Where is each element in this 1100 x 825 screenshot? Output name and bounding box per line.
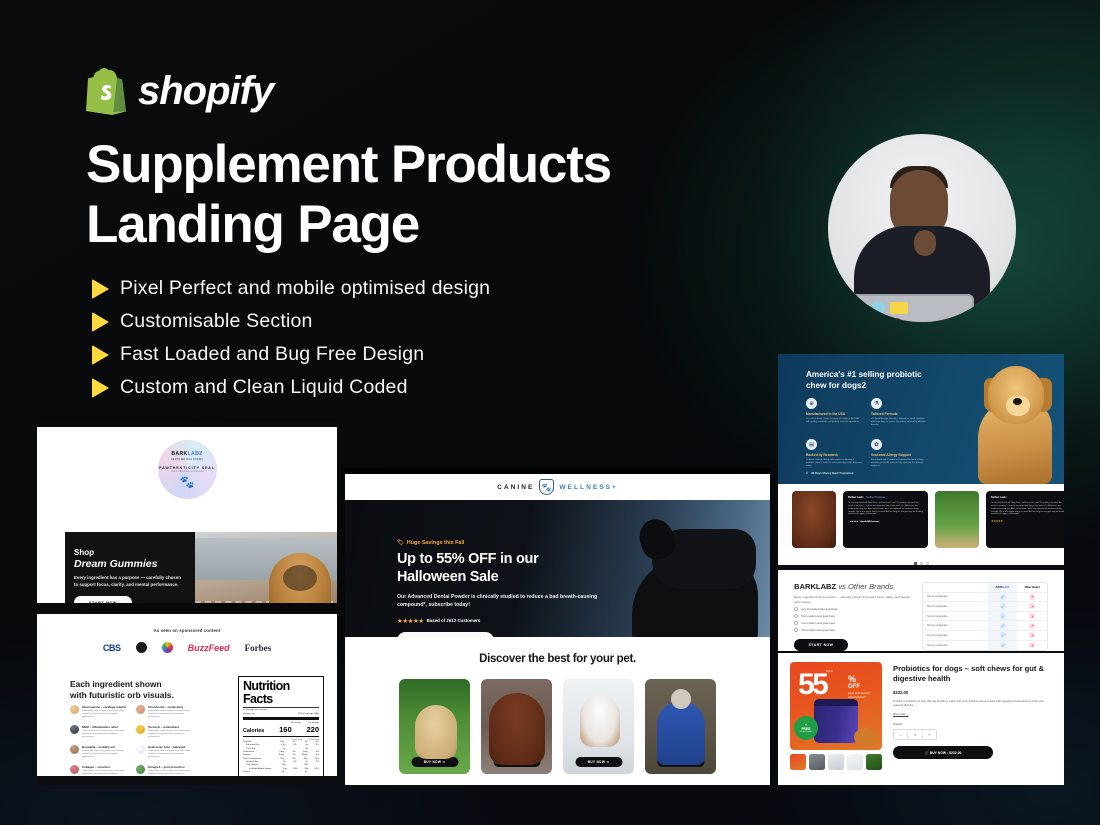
free-gift-badge: +FREEDental Powder [794,716,818,740]
product-hero-image[interactable]: Up to 55 % OFF your first month subscrip… [790,662,882,750]
review-card: Bethan LewisVerified Customer I'm very i… [843,491,928,548]
promo-upto-label: Up to [826,669,833,673]
comparison-table: BARKLABZ Other Brand Text on perspective… [922,582,1048,651]
bullet-label: Pixel Perfect and mobile optimised desig… [120,277,490,300]
ingredient-desc: Traditionally used to support focus and … [82,730,129,739]
ingredient-desc: Traditionally used to support focus and … [148,730,195,739]
discover-heading: Discover the best for your pet. [345,653,770,665]
calories-label: Calories [243,728,264,734]
ingredient-name: Glucosamine – cartilage rebuild [82,705,129,709]
list-item: ▤Backed by ResearchProbiotic worked clos… [806,439,863,468]
mockup-brand-comparison[interactable]: BARKLABZ vs Other Brands Every ingredien… [778,565,1064,651]
shop-product-name: Dream Gummies [74,558,195,570]
ingredient-desc: Traditionally used to support focus and … [148,710,195,719]
list-item: Customisable Section [92,305,632,338]
product-jar-shape [814,699,858,743]
buy-now-button[interactable]: BUY NOW ➜ [575,757,622,767]
seal-mid-sub: 100% VERIFIED FORMULA [171,471,203,473]
list-item: very ingredient has a purpose [794,607,910,611]
shield-check-icon: ⛉ [806,471,808,475]
forbes-logo: Forbes [245,643,272,653]
hero-body: Our Advanced Dental Powder is clinically… [397,593,617,609]
shield-icon: 🐾 [539,479,554,495]
review-stars: ★★★★★ [991,519,1064,523]
page-title: Supplement Products Landing Page [86,135,786,255]
ingredient-orb-icon [70,765,79,774]
feature-title: Tailored Formula [871,412,928,416]
table-row: Text on perspective✓✕ [923,641,1047,651]
browser-top-bar [37,421,337,427]
page-title-line1: Supplement Products [86,135,786,195]
review-stars: ★★★★★Based of 265 Customers [848,519,923,523]
cbs-logo: CBS [103,643,121,653]
list-item: Chondroitin – cushioningTraditionally us… [136,705,195,719]
list-item: ⚗Tailored FormulaOur breakthrough formul… [871,398,928,427]
check-icon: ✓ [1000,594,1006,600]
row-label: Text on perspective [923,644,988,647]
reviewer-name: Bethan LewisVerified Customer [848,496,923,499]
check-circle-icon [794,614,798,618]
press-logo-row: CBS BuzzFeed Forbes [37,642,337,653]
quantity-label: Quantity [893,723,1052,726]
feature-desc: Our breakthrough formula is tailored for… [871,418,928,428]
guarantee-note: ⛉30 Days Money Back Guarantee [806,471,853,475]
list-item: Fast Loaded and Bug Free Design [92,338,632,371]
product-card[interactable]: BUY NOW ➜ [563,679,634,774]
leaf-icon: ✿ [871,439,882,450]
review-carousel[interactable]: Bethan LewisVerified Customer I'm very i… [778,484,1064,560]
feature-grid: ⊕Manufactured in the USAOur soft probiot… [806,398,928,469]
check-icon: ✓ [1000,613,1006,619]
review-body: I'm very impressed with NaturDent+ and h… [848,502,923,516]
brand-word-left: CANINE [497,484,534,491]
list-item: Glucosamine – cartilage rebuildTradition… [70,705,129,719]
buy-now-button[interactable]: 🛒 BUY NOW • $232.00 [893,746,993,759]
shopify-wordmark: shopify [138,69,273,114]
calories-per-package: 220 [306,725,319,734]
nutrition-servings: 10 servings per container [243,709,319,711]
review-photo [792,491,836,548]
promo-discount-number: 55 [798,670,826,700]
hero-banner: 🏷Huge Savings this Fall Up to 55% OFF in… [345,500,770,637]
feature-bullet-list: Pixel Perfect and mobile optimised desig… [92,272,632,404]
list-item: Turmeric – antioxidantTraditionally used… [136,725,195,739]
paw-print-icon: 🐾 [180,476,195,488]
list-item: ✿Seasonal Allergy SupportFormulated with… [871,439,928,468]
show-more-link[interactable]: Show more ⌄ [893,713,1052,716]
ingredient-desc: Traditionally used to support focus and … [148,750,195,759]
product-card[interactable]: BUY NOW ➜ [399,679,470,774]
pawthenticity-seal-badge: BARKLABZ CERTIFIED DOG CHEWS PAWTHENTICI… [158,440,217,499]
ingredient-orb-icon [70,725,79,734]
cross-icon: ✕ [1029,594,1035,600]
ingredient-name: Chondroitin – cushioning [148,705,195,709]
table-row: Text on perspective✓✕ [923,593,1047,603]
triangle-bullet-icon [92,378,109,398]
feature-title: Backed by Research [806,453,863,457]
quantity-decrement[interactable]: – [894,730,907,739]
ingredient-desc: Traditionally used to support focus and … [82,750,129,759]
row-label: Text on perspective [923,615,988,618]
buy-now-button[interactable]: BUY NOW ➜ [493,757,540,767]
review-card: Bethan Lewis I'm very impressed with Nat… [986,491,1064,548]
dog-nose-shape [1013,398,1022,405]
site-header: CANINE 🐾 WELLNESS+ [345,474,770,500]
list-item: Boswellia – mobility aidTraditionally us… [70,745,129,759]
comparison-copy: BARKLABZ vs Other Brands Every ingredien… [794,582,910,651]
nutrition-serving-size: Serving size1/10 of package (28g) [243,713,319,715]
triangle-bullet-icon [92,312,109,332]
column-header-brand: BARKLABZ [996,586,1010,589]
row-label: Text on perspective [923,605,988,608]
globe-icon: ⊕ [806,398,817,409]
page-title-line2: Landing Page [86,195,786,255]
triangle-bullet-icon [92,279,109,299]
press-circle-logo [136,642,147,653]
rating-count-label: Based of 2612 Customers [427,618,481,623]
feature-desc: Probiotic worked closely with experts to… [806,459,863,469]
ingredient-orb-icon [136,745,145,754]
tag-icon: 🏷 [397,540,404,546]
table-row: Text on perspective✓✕ [923,631,1047,641]
check-circle-icon [794,621,798,625]
comparison-body: Every ingredient has a purpose — careful… [794,595,910,604]
ingredient-orb-icon [70,745,79,754]
avatar-hand [914,230,936,256]
mockup-product-detail[interactable]: Up to 55 % OFF your first month subscrip… [778,653,1064,785]
golden-retriever-photo [940,358,1064,484]
pumpkin-shape [854,728,876,746]
mockup-probiotic-chew[interactable]: America's #1 selling probiotic chew for … [778,354,1064,566]
table-row: Text on perspective✓✕ [923,602,1047,612]
bullet-label: Customisable Section [120,310,313,333]
ingredient-orb-icon [136,765,145,774]
quantity-stepper[interactable]: – 1 + [893,729,937,740]
table-header-row: BARKLABZ Other Brand [923,583,1047,593]
product-price: $232.00 [893,690,1052,695]
seal-brand-sub: CERTIFIED DOG CHEWS [171,458,203,461]
shop-description: Every ingredient has a purpose — careful… [74,575,182,588]
ingredient-orb-icon [136,725,145,734]
feature-title: Seasonal Allergy Support [871,453,928,457]
table-row: Text on perspective✓✕ [923,612,1047,622]
ingredient-orb-icon [136,705,145,714]
shopify-bag-icon [84,66,128,116]
thumbnail-strip[interactable] [790,754,882,770]
mockup-shop-dream-gummies[interactable]: BARKLABZ CERTIFIED DOG CHEWS PAWTHENTICI… [37,421,337,603]
hero-copy: 🏷Huge Savings this Fall Up to 55% OFF in… [397,540,617,637]
check-icon: ✓ [1000,632,1006,638]
ingredient-name: Omega-3 – joint protection [148,765,195,769]
list-item: Custom and Clean Liquid Coded [92,371,632,404]
product-gallery[interactable]: Up to 55 % OFF your first month subscrip… [790,662,882,770]
ingredients-heading: Each ingredient shown with futuristic or… [70,679,175,701]
promo-off-label: OFF [848,684,860,690]
column-header-other: Other Brand [1017,586,1047,589]
flask-icon: ⚗ [871,398,882,409]
check-circle-icon [794,628,798,632]
promo-percent-symbol: % [848,674,856,684]
buy-now-button[interactable]: BUY NOW ➜ [411,757,458,767]
ingredient-grid: Glucosamine – cartilage rebuildTradition… [70,705,195,779]
product-card[interactable]: BUY NOW ➜ [481,679,552,774]
seal-mid-text: PAWTHENTICITY SEAL [159,466,215,470]
nbc-peacock-logo [162,642,173,653]
nutrition-col-a: Per serving [291,722,301,725]
book-icon: ▤ [806,439,817,450]
quantity-increment[interactable]: + [922,730,936,739]
bullet-label: Custom and Clean Liquid Coded [120,376,408,399]
buzzfeed-logo: BuzzFeed [188,643,230,653]
list-item: MSM – inflammation reliefTraditionally u… [70,725,129,739]
seal-brand: BARKLABZ [171,451,202,457]
table-row: Text on perspective✓✕ [923,621,1047,631]
mockup-bottom-bar [37,776,337,785]
list-item: Pixel Perfect and mobile optimised desig… [92,272,632,305]
check-icon: ✓ [1000,603,1006,609]
ingredient-name: MSM – inflammation relief [82,725,129,729]
discover-section: Discover the best for your pet. BUY NOW … [345,637,770,785]
shop-promo-text: Shop Dream Gummies Every ingredient has … [65,532,195,603]
quantity-value[interactable]: 1 [907,730,921,739]
probiotic-heading: America's #1 selling probiotic chew for … [806,369,936,391]
dog-photo [195,532,337,603]
reviewer-name: Bethan Lewis [991,496,1064,499]
poster-canvas: shopify Supplement Products Landing Page… [0,0,1100,825]
brand-word-right: WELLNESS+ [559,484,617,491]
ingredient-name: Collagen – structure [82,765,129,769]
ingredient-name: Hyaluronic Acid – lubricant [148,745,195,749]
comparison-heading: BARKLABZ vs Other Brands [794,582,910,591]
mockup-halloween-sale[interactable]: CANINE 🐾 WELLNESS+ 🏷Huge Savings this Fa… [345,468,770,785]
feature-title: Manufactured in the USA [806,412,863,416]
cross-icon: ✕ [1029,613,1035,619]
thumbnail[interactable] [809,754,825,770]
cross-icon: ✕ [1029,642,1035,648]
start-now-button[interactable]: START NOW [74,596,132,603]
table-row: Protein2g4g [243,771,319,774]
ingredient-name: Boswellia – mobility aid [82,745,129,749]
avatar [828,134,1016,322]
list-item: Your custom text goes here [794,628,910,632]
row-label: Text on perspective [923,624,988,627]
feature-desc: Our soft probiotic chews for dogs are ma… [806,418,863,425]
check-circle-icon [794,607,798,611]
thumbnail[interactable] [828,754,844,770]
product-title: Probiotics for dogs – soft chews for gut… [893,664,1052,684]
ingredient-name: Turmeric – antioxidant [148,725,195,729]
product-card[interactable]: BUY NOW ➜ [645,679,716,774]
review-body: I'm very impressed with NaturDent+ and h… [991,502,1064,516]
list-item: ⊕Manufactured in the USAOur soft probiot… [806,398,863,427]
product-description: Probiotic is probiotics for dogs offer b… [893,700,1052,708]
list-item: Hyaluronic Acid – lubricantTraditionally… [136,745,195,759]
star-rating-icon: ★★★★★ [397,617,424,625]
laptop-icon [842,294,974,322]
bullet-label: Fast Loaded and Bug Free Design [120,343,424,366]
mockup-ingredients-nutrition[interactable]: As seen on sponsored content CBS BuzzFee… [37,614,337,785]
hero-headline: Up to 55% OFF in our Halloween Sale [397,551,617,586]
row-label: Text on perspective [923,595,988,598]
nutrition-facts-panel: Nutrition Facts 10 servings per containe… [238,676,324,785]
check-icon: ✓ [1000,623,1006,629]
shopify-logo: shopify [84,66,273,116]
ingredient-orb-icon [70,705,79,714]
product-card-row: BUY NOW ➜ BUY NOW ➜ BUY NOW ➜ BUY NOW ➜ [345,679,770,774]
rating-row: ★★★★★ Based of 2612 Customers [397,617,617,625]
ingredient-desc: Traditionally used to support focus and … [82,710,129,719]
cross-icon: ✕ [1029,632,1035,638]
shop-promo-card: Shop Dream Gummies Every ingredient has … [65,532,337,603]
list-item: Your custom text goes here [794,614,910,618]
review-photo [935,491,979,548]
nutrition-calories-row: Calories 160 220 [243,725,319,734]
thumbnail[interactable] [866,754,882,770]
start-now-button[interactable]: START NOW [794,639,848,651]
as-seen-on-label: As seen on sponsored content [37,614,337,633]
hero-cta-button[interactable]: GET UP TO 55% OFF [397,632,494,638]
thumbnail[interactable] [847,754,863,770]
shop-kicker: Shop [74,548,195,557]
cross-icon: ✕ [1029,623,1035,629]
nutrition-title: Nutrition Facts [243,680,319,705]
thumbnail[interactable] [790,754,806,770]
product-info: Probiotics for dogs – soft chews for gut… [893,662,1052,770]
list-item: Your custom text goes here [794,621,910,625]
calories-per-serving: 160 [279,725,292,734]
feature-desc: Formulated with 3 strains of beneficial … [871,459,928,469]
buy-now-button[interactable]: BUY NOW ➜ [657,757,704,767]
cross-icon: ✕ [1029,603,1035,609]
hero-eyebrow: 🏷Huge Savings this Fall [397,540,617,546]
triangle-bullet-icon [92,345,109,365]
check-icon: ✓ [1000,642,1006,648]
probiotic-hero: America's #1 selling probiotic chew for … [778,354,1064,484]
row-label: Text on perspective [923,634,988,637]
